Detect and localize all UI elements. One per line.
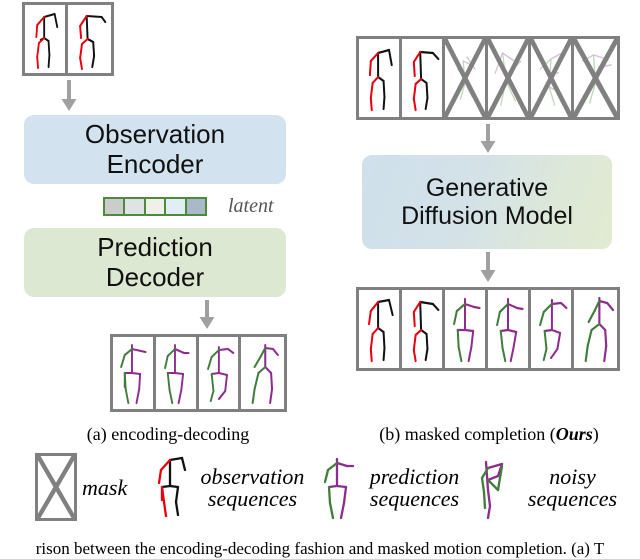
frame-prediction	[156, 337, 199, 409]
arrow-down-to-prediction-output	[198, 300, 216, 330]
generative-diffusion-model-label: Generative Diffusion Model	[401, 174, 573, 230]
frame-observation	[25, 5, 68, 73]
frame-prediction	[488, 290, 531, 368]
figure-bottom-caption: rison between the encoding-decoding fash…	[0, 539, 640, 559]
arrow-down-to-diffusion-model	[479, 124, 497, 154]
panel-b-output-strip	[356, 287, 620, 371]
prediction-decoder-label: Prediction Decoder	[97, 233, 213, 291]
frame-prediction	[113, 337, 156, 409]
frame-prediction	[574, 290, 617, 368]
prediction-decoder-box: Prediction Decoder	[24, 228, 286, 297]
frame-masked	[574, 39, 617, 117]
latent-vector	[103, 197, 207, 216]
latent-label: latent	[228, 195, 274, 218]
observation-skeleton-icon	[148, 450, 194, 522]
panel-a-caption: (a) encoding-decoding	[38, 424, 298, 445]
panel-b-caption: (b) masked completion (Ours)	[360, 424, 618, 445]
frame-masked	[445, 39, 488, 117]
panel-a-input-strip	[22, 2, 114, 76]
observation-encoder-label: Observation Encoder	[85, 120, 225, 178]
panel-b-input-strip	[356, 36, 620, 120]
frame-observation	[359, 39, 402, 117]
latent-cell	[166, 199, 186, 214]
frame-prediction	[531, 290, 574, 368]
legend-label-noisy: noisy sequences	[510, 466, 635, 511]
frame-observation	[402, 290, 445, 368]
latent-cell	[105, 199, 125, 214]
frame-prediction	[199, 337, 242, 409]
latent-cell	[187, 199, 205, 214]
mask-box-icon	[35, 453, 77, 521]
frame-observation	[68, 5, 111, 73]
panel-b-caption-suffix: )	[593, 424, 599, 444]
panel-b-caption-emphasis: Ours	[556, 424, 593, 444]
observation-encoder-box: Observation Encoder	[24, 115, 286, 184]
latent-cell	[125, 199, 145, 214]
frame-prediction	[445, 290, 488, 368]
legend-label-mask: mask	[82, 477, 152, 499]
frame-masked	[531, 39, 574, 117]
arrow-down-to-completion-output	[479, 252, 497, 284]
arrow-down-to-encoder	[60, 80, 78, 112]
generative-diffusion-model-box: Generative Diffusion Model	[362, 155, 612, 249]
legend-label-observation: observation sequences	[190, 466, 315, 511]
frame-observation	[359, 290, 402, 368]
panel-b-caption-prefix: (b) masked completion (	[379, 424, 555, 444]
figure-root: Observation Encoder latent Prediction De…	[0, 0, 640, 554]
frame-masked	[488, 39, 531, 117]
frame-prediction	[241, 337, 284, 409]
latent-cell	[146, 199, 166, 214]
panel-a-output-strip	[110, 334, 287, 412]
frame-observation	[402, 39, 445, 117]
noisy-skeleton-icon	[468, 450, 514, 522]
legend-label-prediction: prediction sequences	[352, 466, 477, 511]
